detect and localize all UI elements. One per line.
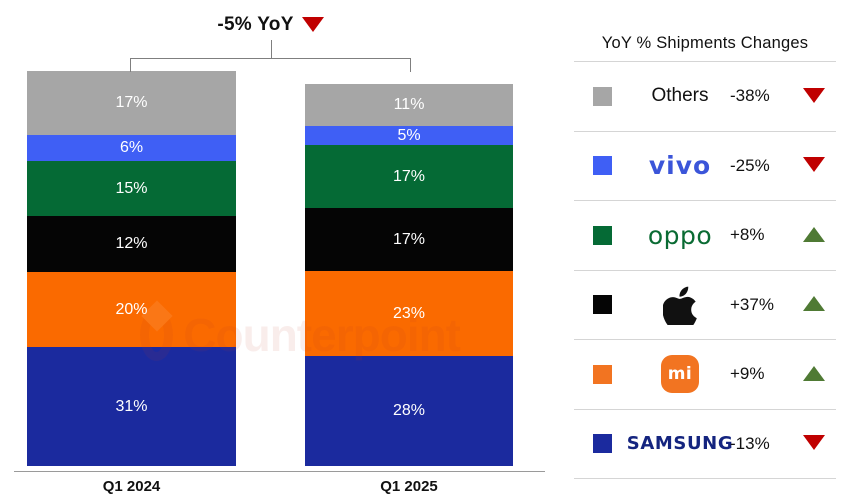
legend-brand-cell: Others	[630, 85, 730, 107]
bar-segment-label: 17%	[115, 95, 147, 111]
legend-row-vivo[interactable]: vivo -25%	[574, 132, 836, 202]
bar-segment-label: 17%	[393, 169, 425, 185]
legend-swatch-vivo	[593, 156, 612, 175]
legend-swatch-cell	[574, 226, 630, 245]
legend-rows: Others -38% vivo -25%	[574, 61, 836, 479]
mi-logo-text: mi	[668, 364, 693, 384]
arrow-up-icon	[803, 296, 825, 311]
legend-swatch-xiaomi	[593, 365, 612, 384]
apple-logo-icon	[663, 284, 697, 325]
legend-title: YoY % Shipments Changes	[574, 34, 836, 61]
legend-swatch-samsung	[593, 434, 612, 453]
legend-swatch-oppo	[593, 226, 612, 245]
stacked-bar-chart: Counterpoint -5% YoY 17% 6% 15% 12%	[0, 0, 850, 502]
bar-segment-apple: 17%	[305, 208, 513, 271]
bracket-horizontal	[130, 58, 411, 59]
bar-segment-vivo: 5%	[305, 126, 513, 145]
legend-arrow-cell	[792, 158, 836, 173]
arrow-down-icon	[302, 17, 324, 32]
bar-segment-label: 31%	[115, 399, 147, 415]
legend-arrow-cell	[792, 297, 836, 312]
bar-segment-xiaomi: 23%	[305, 271, 513, 356]
bar-segment-label: 15%	[115, 181, 147, 197]
bar-segment-label: 20%	[115, 302, 147, 318]
legend-row-xiaomi[interactable]: mi +9%	[574, 340, 836, 410]
legend: YoY % Shipments Changes Others -38%	[574, 34, 836, 479]
bar-segment-vivo: 6%	[27, 135, 236, 161]
legend-row-others[interactable]: Others -38%	[574, 62, 836, 132]
legend-brand-cell: oppo	[630, 221, 730, 250]
bar-segment-samsung: 31%	[27, 347, 236, 466]
category-label-q1-2025: Q1 2025	[305, 478, 513, 495]
legend-brand-cell	[630, 284, 730, 325]
samsung-logo-icon: SAMSUNG	[627, 433, 733, 454]
arrow-down-icon	[803, 157, 825, 172]
bar-segment-label: 5%	[397, 128, 420, 144]
total-yoy-annotation: -5% YoY	[130, 14, 411, 36]
bar-segment-apple: 12%	[27, 216, 236, 272]
legend-swatch-others	[593, 87, 612, 106]
vivo-logo-icon: vivo	[649, 151, 711, 180]
legend-change-vivo: -25%	[730, 156, 792, 176]
legend-arrow-cell	[792, 436, 836, 451]
bar-segment-label: 23%	[393, 306, 425, 322]
bar-segment-label: 28%	[393, 403, 425, 419]
plot-area: 17% 6% 15% 12% 20% 31% Q1 2024 11%	[0, 0, 560, 502]
bar-q1-2024: 17% 6% 15% 12% 20% 31%	[27, 71, 236, 466]
legend-swatch-cell	[574, 156, 630, 175]
bracket-leg-right	[410, 58, 411, 72]
bar-segment-label: 12%	[115, 236, 147, 252]
legend-brand-cell: mi	[630, 355, 730, 393]
legend-swatch-cell	[574, 434, 630, 453]
brand-label-others: Others	[651, 85, 708, 107]
total-yoy-label: -5% YoY	[217, 14, 293, 35]
bar-segment-label: 11%	[394, 97, 425, 113]
legend-swatch-cell	[574, 365, 630, 384]
bar-segment-oppo: 17%	[305, 145, 513, 208]
legend-row-oppo[interactable]: oppo +8%	[574, 201, 836, 271]
bar-segment-xiaomi: 20%	[27, 272, 236, 347]
arrow-up-icon	[803, 227, 825, 242]
bracket-leg-left	[130, 58, 131, 72]
oppo-logo-icon: oppo	[648, 221, 712, 250]
legend-change-samsung: -13%	[730, 434, 792, 454]
bar-segment-label: 17%	[393, 232, 425, 248]
bar-segment-samsung: 28%	[305, 356, 513, 466]
arrow-down-icon	[803, 435, 825, 450]
category-label-q1-2024: Q1 2024	[27, 478, 236, 495]
legend-brand-cell: SAMSUNG	[630, 433, 730, 454]
legend-arrow-cell	[792, 228, 836, 243]
mi-logo-icon: mi	[661, 355, 699, 393]
bar-segment-label: 6%	[120, 140, 143, 156]
legend-row-samsung[interactable]: SAMSUNG -13%	[574, 410, 836, 480]
legend-change-apple: +37%	[730, 295, 792, 315]
bracket-stem	[271, 40, 272, 58]
legend-change-oppo: +8%	[730, 225, 792, 245]
bar-segment-oppo: 15%	[27, 161, 236, 216]
legend-swatch-apple	[593, 295, 612, 314]
legend-arrow-cell	[792, 367, 836, 382]
legend-change-others: -38%	[730, 86, 792, 106]
bar-segment-others: 17%	[27, 71, 236, 135]
legend-brand-cell: vivo	[630, 151, 730, 180]
legend-row-apple[interactable]: +37%	[574, 271, 836, 341]
bar-q1-2025: 11% 5% 17% 17% 23% 28%	[305, 84, 513, 466]
arrow-down-icon	[803, 88, 825, 103]
legend-swatch-cell	[574, 87, 630, 106]
yoy-bracket	[130, 40, 411, 72]
legend-change-xiaomi: +9%	[730, 364, 792, 384]
arrow-up-icon	[803, 366, 825, 381]
category-axis-line	[14, 471, 545, 472]
legend-swatch-cell	[574, 295, 630, 314]
legend-arrow-cell	[792, 89, 836, 104]
bar-segment-others: 11%	[305, 84, 513, 126]
